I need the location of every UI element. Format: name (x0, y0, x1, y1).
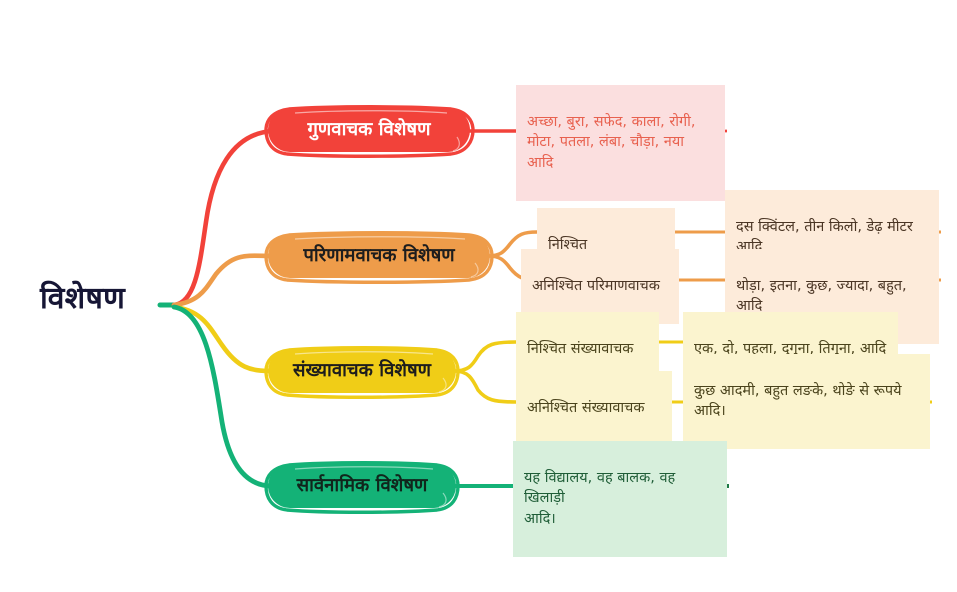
subnode-label: निश्चित संख्यावाचक (527, 339, 648, 360)
leaf-sarvnamik-examples[interactable]: यह विद्यालय, वह बालक, वह खिलाड़ी आदि। (513, 441, 727, 557)
leaf-text: अच्छा, बुरा, सफेद, काला, रोगी, मोटा, पतल… (527, 112, 714, 174)
branch-node-label: सार्वनामिक विशेषण (297, 477, 428, 496)
subnode-label: अनिश्चित संख्यावाचक (527, 398, 661, 419)
mindmap-canvas: विशेषण गुणवाचक विशेषण अच्छा, बुरा, सफेद,… (0, 0, 957, 592)
leaf-text: कुछ आदमी, बहुत लङके, थोङे से रूपये आदि। (694, 381, 919, 422)
leaf-text: यह विद्यालय, वह बालक, वह खिलाड़ी आदि। (524, 468, 716, 530)
branch-node-label: संख्यावाचक विशेषण (293, 362, 431, 381)
branch-node-sankhyavachak-vishesan[interactable]: संख्यावाचक विशेषण (268, 349, 456, 393)
connector-sankhyavachak-to-sub-a (454, 342, 516, 371)
connector-root-to-sarvnamik (174, 307, 272, 486)
leaf-anishchit-sankhyavachak-examples[interactable]: कुछ आदमी, बहुत लङके, थोङे से रूपये आदि। (683, 354, 930, 449)
connector-root-to-sankhyavachak (174, 307, 272, 371)
branch-node-sarvnamik-vishesan[interactable]: सार्वनामिक विशेषण (268, 464, 456, 508)
root-node-label: विशेषण (40, 281, 125, 317)
leaf-gunvachak-examples[interactable]: अच्छा, बुरा, सफेद, काला, रोगी, मोटा, पतल… (516, 85, 725, 201)
branch-node-label: गुणवाचक विशेषण (308, 121, 431, 140)
branch-node-label: परिणामवाचक विशेषण (303, 247, 454, 266)
branch-node-parinamvachak-vishesan[interactable]: परिणामवाचक विशेषण (268, 234, 490, 278)
leaf-text: थोड़ा, इतना, कुछ, ज्यादा, बहुत, आदि (736, 276, 928, 317)
subnode-anishchit-sankhyavachak[interactable]: अनिश्चित संख्यावाचक (516, 371, 672, 446)
subnode-label: अनिश्चित परिमाणवाचक (532, 276, 668, 297)
connector-root-to-parinamvachak (174, 256, 272, 305)
connector-sankhyavachak-to-sub-b (454, 371, 516, 402)
branch-node-gunvachak-vishesan[interactable]: गुणवाचक विशेषण (268, 108, 470, 152)
connector-root-to-gunvachak (174, 131, 272, 305)
